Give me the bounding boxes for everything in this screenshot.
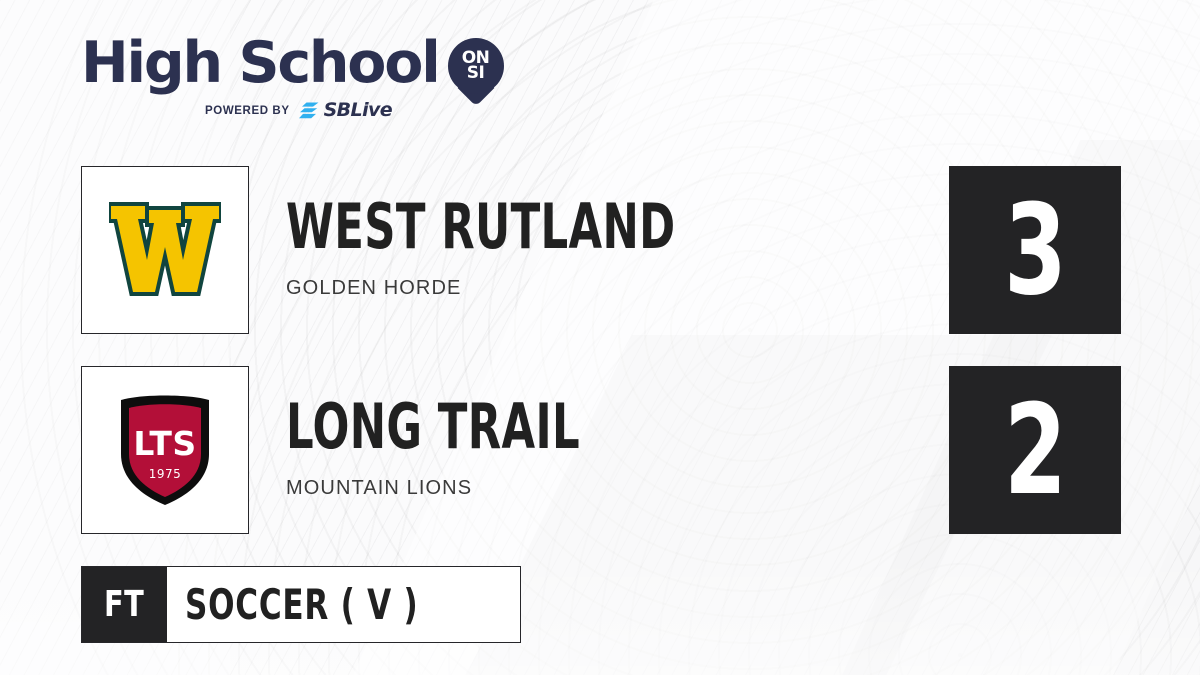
pin-label-group: ON SI [448, 38, 504, 94]
score-box: 3 [949, 166, 1121, 334]
status-badge: FT [82, 567, 167, 642]
score-value: 3 [1004, 188, 1067, 313]
sblive-text-sb: SBL [324, 99, 362, 121]
team-text-group: WEST RUTLAND GOLDEN HORDE [286, 198, 986, 300]
sport-label: SOCCER ( V ) [185, 580, 418, 629]
svg-text:LTS: LTS [133, 424, 196, 463]
long-trail-lts-shield-logo: LTS 1975 [115, 392, 215, 508]
status-code-text: FT [104, 584, 144, 625]
team-logo-box: LTS 1975 [81, 366, 249, 534]
sblive-s-mark-icon [299, 102, 321, 119]
team-text-group: LONG TRAIL MOUNTAIN LIONS [286, 398, 986, 500]
sblive-text-ive: ive [362, 99, 392, 121]
brand-logo-row: High School ON SI [81, 36, 504, 94]
game-status-bar: FT SOCCER ( V ) [81, 566, 521, 643]
sblive-wordmark: SBLive [324, 101, 392, 120]
brand-header: High School ON SI POWERED BY [81, 36, 504, 120]
team-name: LONG TRAIL [286, 398, 776, 456]
powered-by-row: POWERED BY SBLive [205, 101, 504, 120]
on-si-pin-icon: ON SI [448, 38, 504, 94]
scoreboard-graphic: High School ON SI POWERED BY [0, 0, 1200, 675]
team-mascot: MOUNTAIN LIONS [286, 477, 986, 500]
pin-label-si: SI [467, 66, 485, 81]
powered-by-label: POWERED BY [205, 105, 290, 117]
team-name: WEST RUTLAND [286, 198, 776, 256]
score-value: 2 [1004, 388, 1067, 513]
brand-wordmark: High School [81, 36, 439, 90]
team-logo-box [81, 166, 249, 334]
team-mascot: GOLDEN HORDE [286, 277, 986, 300]
sport-label-container: SOCCER ( V ) [167, 567, 520, 642]
sblive-logo: SBLive [299, 101, 392, 120]
score-box: 2 [949, 366, 1121, 534]
west-rutland-w-logo [109, 202, 221, 298]
svg-text:1975: 1975 [149, 467, 182, 481]
